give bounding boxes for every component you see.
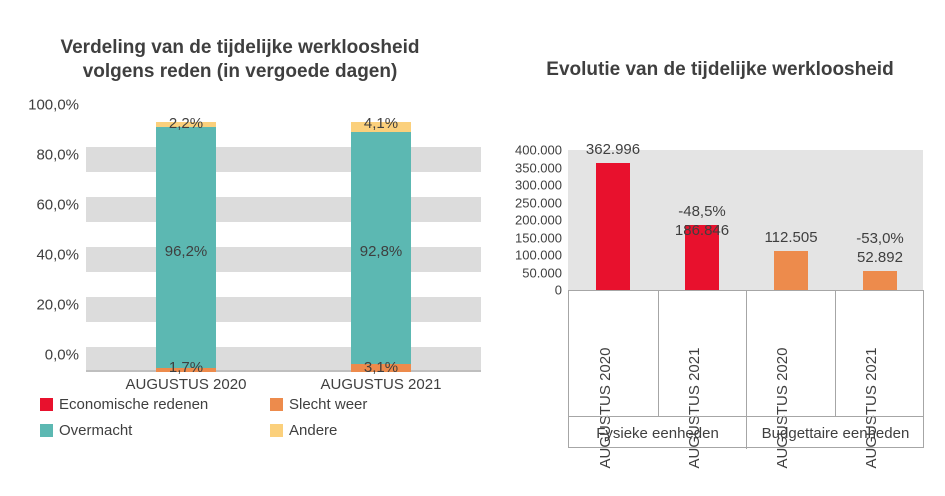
- stacked-column-augustus-2020[interactable]: 1,7% 96,2% 2,2%: [156, 122, 216, 372]
- segment-label-slecht-weer: 1,7%: [169, 359, 203, 376]
- x-axis-line: [86, 370, 481, 372]
- y-axis-tick-label: 400.000: [515, 143, 562, 158]
- x-axis-cell: AUGUSTUS 2020: [746, 291, 835, 416]
- legend-item-economische-redenen[interactable]: Economische redenen: [40, 396, 270, 413]
- y-axis-tick-label: 100.000: [515, 248, 562, 263]
- y-axis-tick-label: 300.000: [515, 178, 562, 193]
- x-axis-label-table: AUGUSTUS 2020 AUGUSTUS 2021 AUGUSTUS 202…: [568, 290, 924, 448]
- column-budgettaire-augustus-2021[interactable]: -53,0% 52.892: [863, 271, 897, 290]
- x-axis-category-label: AUGUSTUS 2021: [686, 348, 703, 469]
- legend-swatch-icon: [270, 398, 283, 411]
- y-axis-tick-label: 350.000: [515, 160, 562, 175]
- legend-swatch-icon: [40, 398, 53, 411]
- grid-band: [86, 347, 481, 372]
- right-plot-area: 0 50.000 100.000 150.000 200.000 250.000…: [568, 150, 923, 290]
- x-axis-cell: AUGUSTUS 2021: [835, 291, 924, 416]
- left-plot-area: 0,0% 20,0% 40,0% 60,0% 80,0% 100,0% 1,7%…: [86, 122, 481, 372]
- grid-band: [86, 147, 481, 172]
- stacked-column-augustus-2021[interactable]: 3,1% 92,8% 4,1%: [351, 122, 411, 372]
- grid-band: [86, 197, 481, 222]
- segment-label-andere: 4,1%: [364, 115, 398, 132]
- x-axis-cell: AUGUSTUS 2021: [658, 291, 747, 416]
- right-chart-title: Evolutie van de tijdelijke werkloosheid: [520, 58, 920, 82]
- segment-label-slecht-weer: 3,1%: [364, 359, 398, 376]
- y-axis-tick-label: 100,0%: [28, 97, 79, 114]
- grid-band: [86, 297, 481, 322]
- y-axis-tick-label: 0,0%: [45, 347, 79, 364]
- column-chart-panel: Evolutie van de tijdelijke werkloosheid …: [490, 0, 945, 496]
- segment-label-andere: 2,2%: [169, 115, 203, 132]
- y-axis-tick-label: 40,0%: [36, 247, 79, 264]
- legend-item-slecht-weer[interactable]: Slecht weer: [270, 396, 367, 413]
- column-delta-label: -48,5%: [678, 202, 726, 221]
- column-value-label: 362.996: [586, 140, 640, 159]
- legend-item-andere[interactable]: Andere: [270, 422, 337, 439]
- left-chart-title: Verdeling van de tijdelijke werkloosheid…: [40, 36, 440, 84]
- x-axis-category-label: AUGUSTUS 2020: [106, 376, 266, 393]
- y-axis-tick-label: 60,0%: [36, 197, 79, 214]
- stacked-bar-chart-panel: Verdeling van de tijdelijke werkloosheid…: [0, 0, 490, 496]
- legend-label: Overmacht: [59, 422, 132, 439]
- x-axis-cell: AUGUSTUS 2020: [569, 291, 658, 416]
- x-axis-category-label: AUGUSTUS 2021: [301, 376, 461, 393]
- x-axis-category-label: AUGUSTUS 2020: [774, 348, 791, 469]
- y-axis-tick-label: 80,0%: [36, 147, 79, 164]
- y-axis-tick-label: 20,0%: [36, 297, 79, 314]
- y-axis-tick-label: 200.000: [515, 213, 562, 228]
- column-value-label: 112.505: [764, 228, 817, 247]
- grid-band: [86, 247, 481, 272]
- segment-label-overmacht: 92,8%: [360, 243, 403, 260]
- x-axis-category-label: AUGUSTUS 2021: [863, 348, 880, 469]
- column-value-label: 186.846: [675, 221, 729, 240]
- column-budgettaire-augustus-2020[interactable]: 112.505: [774, 251, 808, 290]
- left-chart-legend: Economische redenen Slecht weer Overmach…: [40, 396, 470, 439]
- y-axis-tick-label: 250.000: [515, 195, 562, 210]
- x-axis-category-label: AUGUSTUS 2020: [597, 348, 614, 469]
- y-axis-tick-label: 0: [555, 283, 562, 298]
- column-fysieke-augustus-2021[interactable]: -48,5% 186.846: [685, 225, 719, 290]
- group-label-budgettaire-eenheden: Budgettaire eenheden: [747, 417, 924, 449]
- legend-swatch-icon: [40, 424, 53, 437]
- column-fysieke-augustus-2020[interactable]: 362.996: [596, 163, 630, 290]
- y-axis-tick-label: 50.000: [522, 265, 562, 280]
- legend-item-overmacht[interactable]: Overmacht: [40, 422, 270, 439]
- legend-swatch-icon: [270, 424, 283, 437]
- column-value-label: 52.892: [857, 248, 903, 267]
- legend-label: Economische redenen: [59, 396, 208, 413]
- group-label-fysieke-eenheden: Fysieke eenheden: [569, 417, 746, 449]
- segment-label-overmacht: 96,2%: [165, 243, 208, 260]
- legend-label: Slecht weer: [289, 396, 367, 413]
- column-delta-label: -53,0%: [856, 229, 904, 248]
- y-axis-tick-label: 150.000: [515, 230, 562, 245]
- legend-label: Andere: [289, 422, 337, 439]
